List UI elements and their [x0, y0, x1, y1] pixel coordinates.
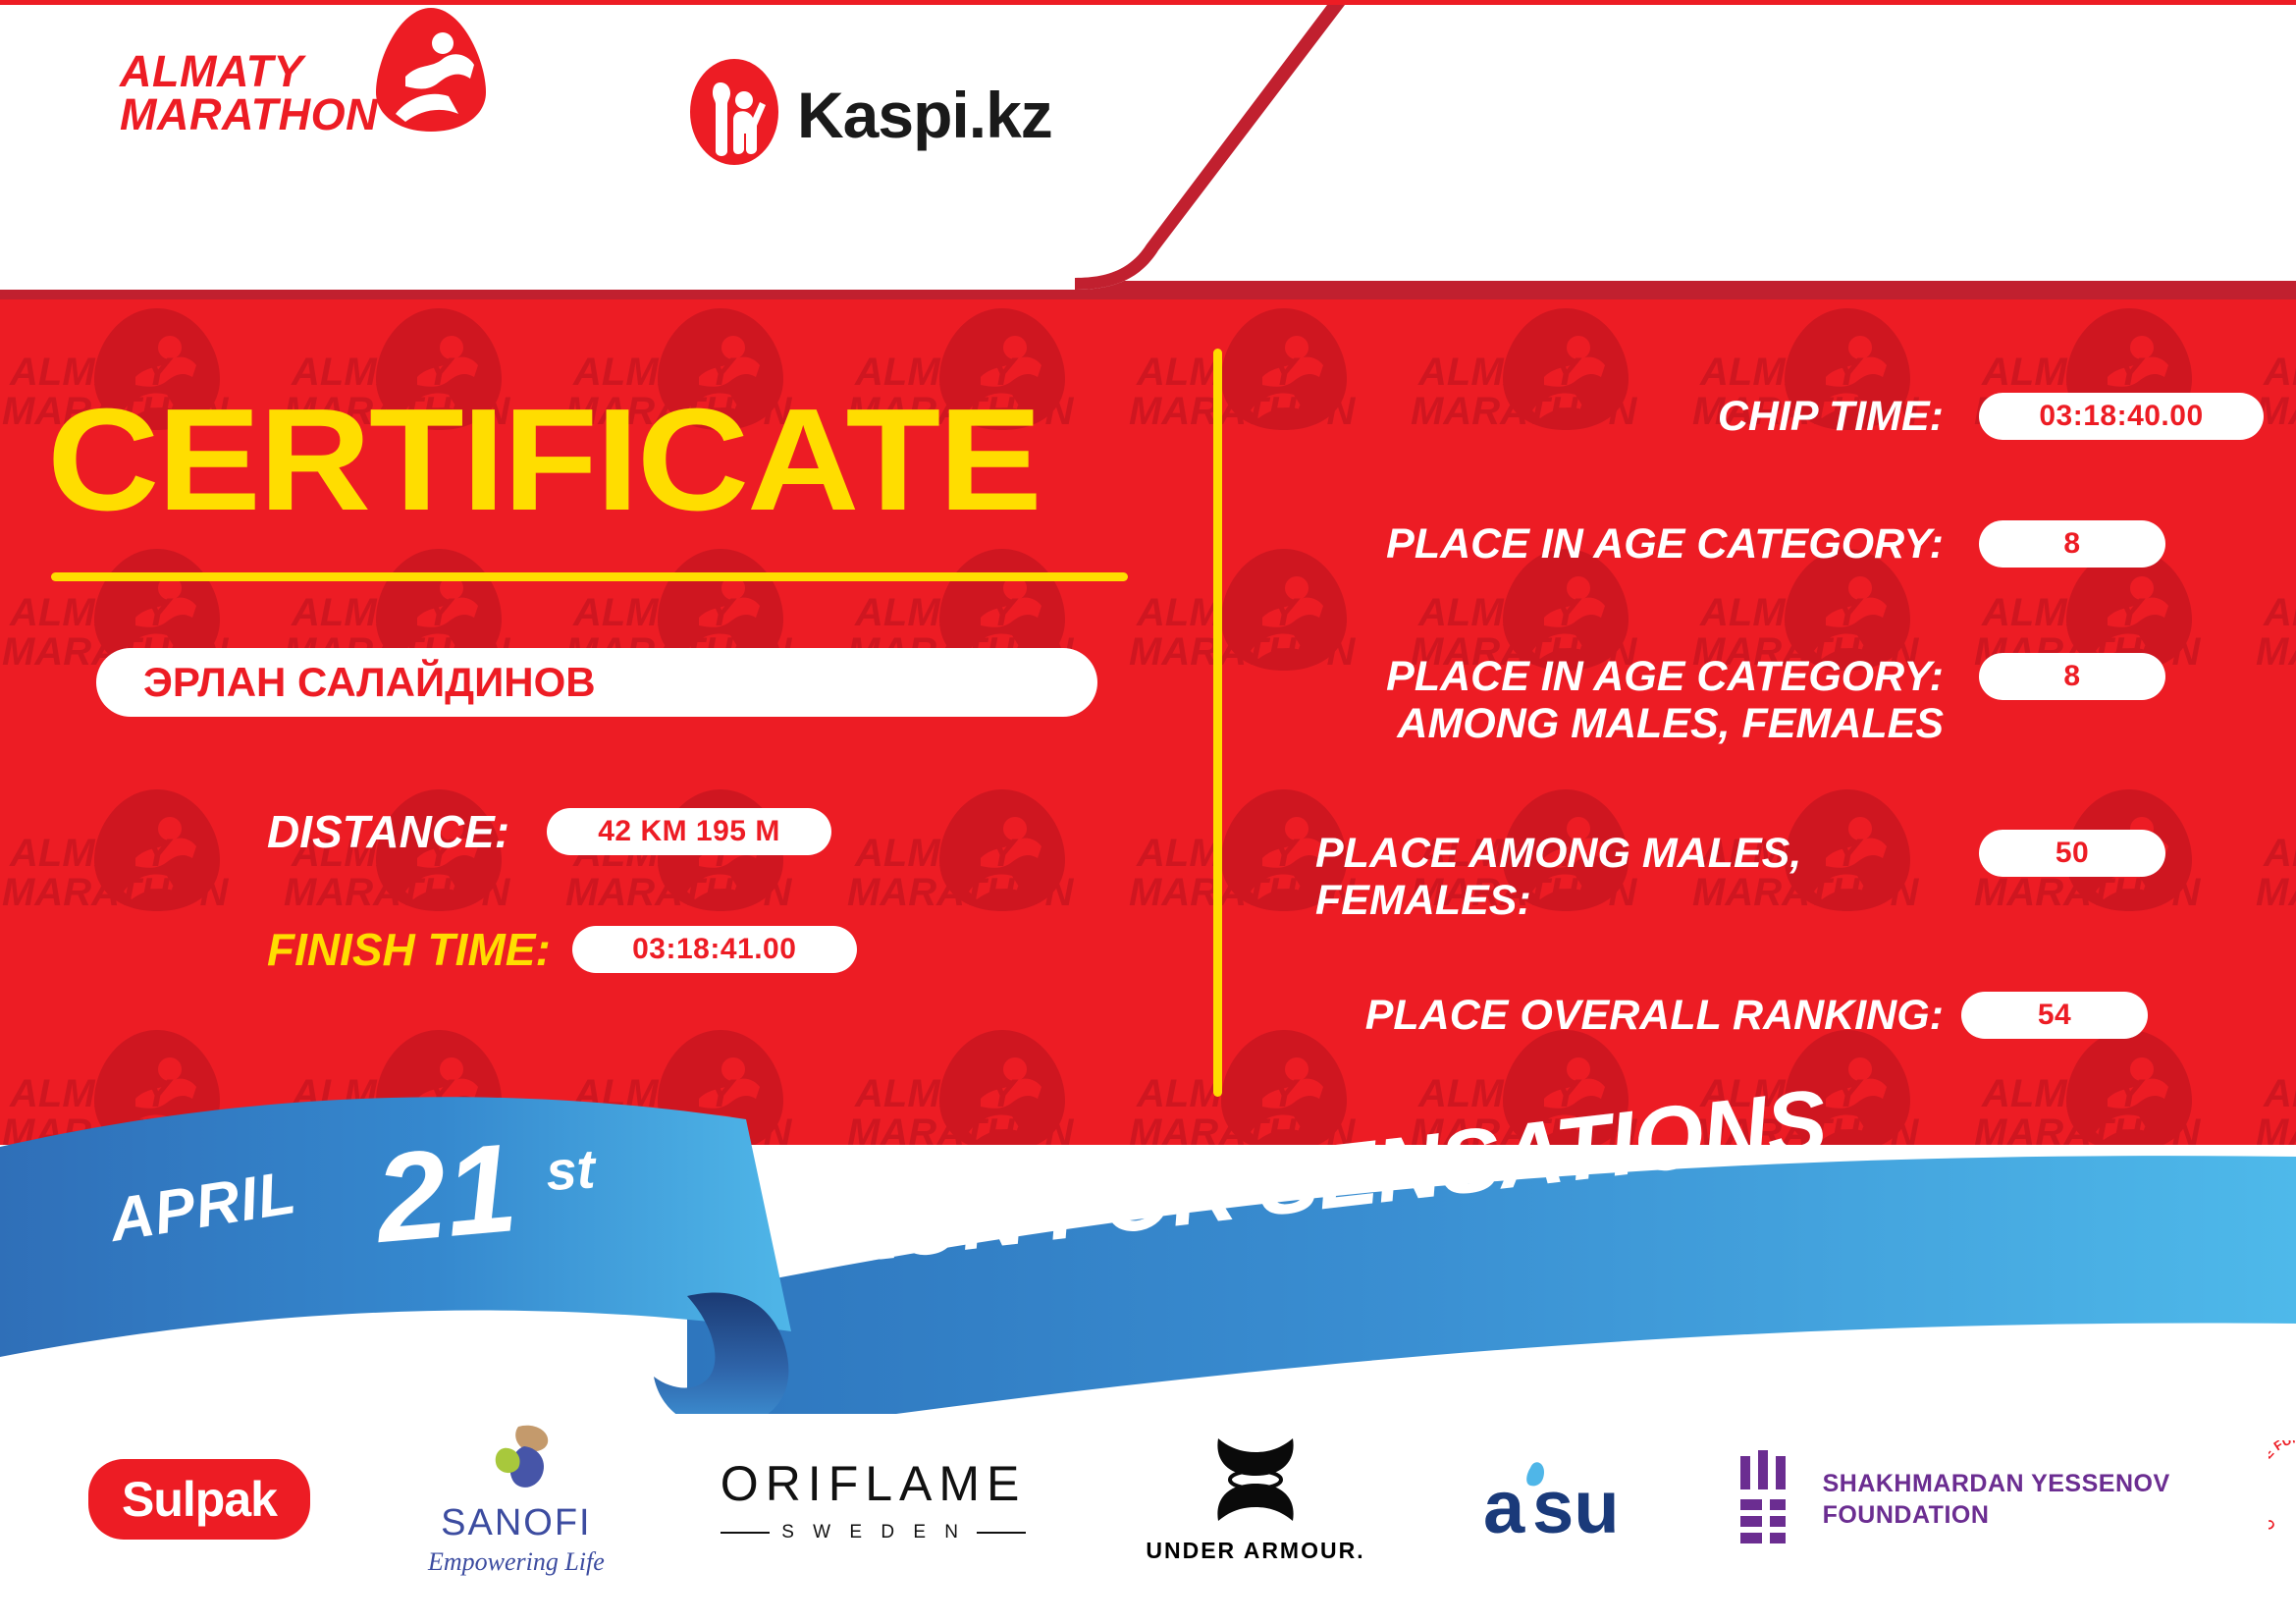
under-armour-wordmark: UNDER ARMOUR.	[1146, 1538, 1364, 1564]
sanofi-icon	[475, 1423, 558, 1498]
result-label: PLACE IN AGE CATEGORY:	[1315, 520, 1944, 568]
oriflame-sub: S W E D E N	[721, 1522, 1027, 1543]
kaspi-people-icon	[687, 57, 781, 172]
ribbon-day-suffix: st	[545, 1136, 597, 1203]
almaty-logo-line1: ALMATY	[120, 50, 378, 92]
courage-fund-icon: CORPORATE FUND	[2269, 1440, 2296, 1559]
result-label: CHIP TIME:	[1315, 393, 1944, 440]
yessenov-wordmark: SHAKHMARDAN YESSENOV FOUNDATION	[1823, 1468, 2170, 1532]
result-row-place-overall: PLACE OVERALL RANKING: 54	[1315, 992, 2148, 1039]
result-value: 8	[1979, 520, 2165, 568]
svg-text:CORPORATE FUND: CORPORATE FUND	[2269, 1440, 2296, 1534]
yessenov-icon	[1738, 1450, 1797, 1549]
oriflame-country: S W E D E N	[781, 1522, 965, 1543]
distance-label: DISTANCE:	[267, 805, 509, 858]
sulpak-wordmark: Sulpak	[88, 1459, 310, 1540]
certificate-canvas: ALMATY MARATHON ALMATY MARATHON	[0, 0, 2296, 1624]
kaspi-wordmark: Kaspi.kz	[797, 78, 1052, 152]
ribbon-day: 21	[370, 1115, 522, 1272]
finish-time-label: FINISH TIME:	[267, 923, 551, 976]
top-accent-line	[0, 0, 2296, 5]
sanofi-wordmark: SANOFI	[441, 1502, 591, 1544]
page-title: CERTIFICATE	[47, 388, 1041, 533]
result-row-place-among-gender: PLACE AMONG MALES, FEMALES: 50	[1315, 830, 2165, 924]
result-value: 03:18:40.00	[1979, 393, 2264, 440]
sponsor-row: Sulpak SANOFI Empowering Life ORIFLAME S…	[0, 1426, 2296, 1573]
result-row-chip-time: CHIP TIME: 03:18:40.00	[1315, 393, 2264, 440]
title-underline	[51, 572, 1128, 581]
distance-value: 42 KM 195 M	[547, 808, 831, 855]
sponsor-courage-fund: CORPORATE FUND COURAGE TO BE THE FIRST!	[2269, 1440, 2296, 1559]
sponsor-sanofi: SANOFI Empowering Life	[428, 1423, 605, 1577]
result-value: 54	[1961, 992, 2148, 1039]
athlete-name-field: ЭРЛАН САЛАЙДИНОВ	[96, 648, 1097, 717]
result-value: 8	[1979, 653, 2165, 700]
distance-row: DISTANCE: 42 KM 195 M	[267, 805, 831, 858]
result-label: PLACE AMONG MALES, FEMALES:	[1315, 830, 1944, 924]
almaty-logo-line2: MARATHON	[120, 93, 378, 135]
svg-text:a: a	[1483, 1466, 1525, 1546]
sanofi-tagline: Empowering Life	[428, 1547, 605, 1577]
result-label: PLACE OVERALL RANKING:	[1315, 992, 1944, 1039]
column-divider	[1213, 349, 1222, 1097]
kaspi-logo: Kaspi.kz	[687, 57, 1052, 172]
asu-wordmark: a su	[1483, 1452, 1629, 1546]
sponsor-oriflame: ORIFLAME S W E D E N	[721, 1455, 1027, 1543]
ribbon-month: APRIL	[105, 1158, 301, 1256]
sponsor-yessenov-foundation: SHAKHMARDAN YESSENOV FOUNDATION	[1738, 1450, 2170, 1549]
finish-time-value: 03:18:41.00	[572, 926, 857, 973]
result-row-place-age-category-gender: PLACE IN AGE CATEGORY: AMONG MALES, FEMA…	[1315, 653, 2165, 747]
finish-time-row: FINISH TIME: 03:18:41.00	[267, 923, 857, 976]
under-armour-icon	[1197, 1435, 1314, 1530]
result-label: PLACE IN AGE CATEGORY: AMONG MALES, FEMA…	[1315, 653, 1944, 747]
oriflame-wordmark: ORIFLAME	[721, 1455, 1027, 1512]
result-value: 50	[1979, 830, 2165, 877]
oriflame-rule-left	[721, 1532, 770, 1534]
svg-text:su: su	[1532, 1466, 1620, 1546]
almaty-marathon-logo: ALMATY MARATHON	[120, 47, 490, 138]
sponsor-sulpak: Sulpak	[88, 1459, 310, 1540]
oriflame-rule-right	[977, 1532, 1026, 1534]
athlete-name-value: ЭРЛАН САЛАЙДИНОВ	[143, 659, 596, 706]
sponsor-under-armour: UNDER ARMOUR.	[1146, 1435, 1364, 1564]
runner-drop-icon	[372, 6, 490, 138]
result-row-place-age-category: PLACE IN AGE CATEGORY: 8	[1315, 520, 2165, 568]
sponsor-asu: a su	[1483, 1452, 1629, 1546]
